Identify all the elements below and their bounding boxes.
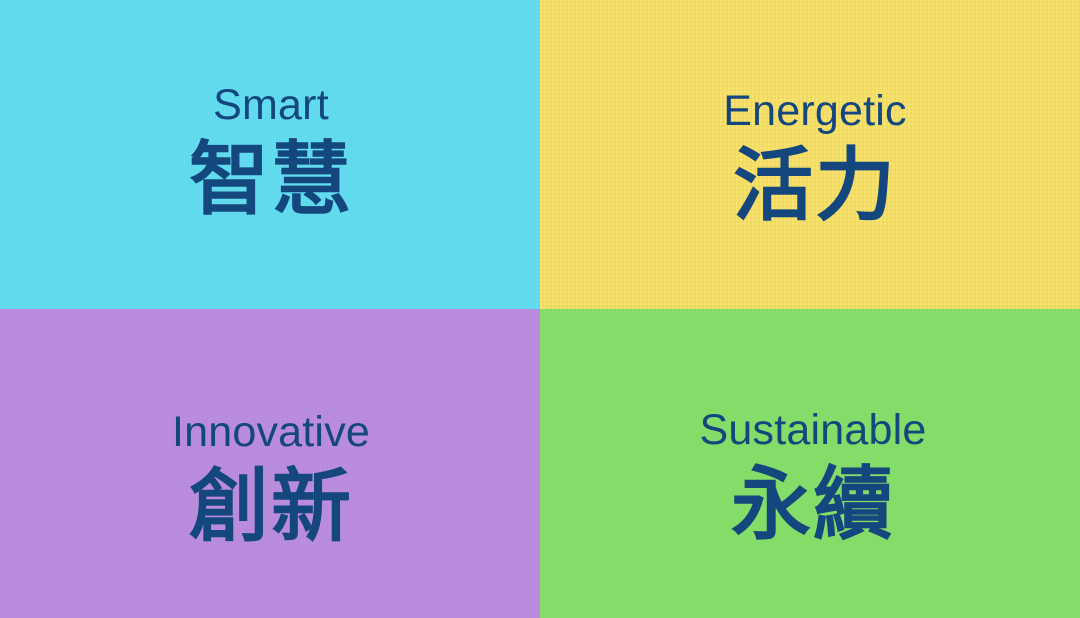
quadrant-innovative[interactable]: Innovative 創新 xyxy=(0,309,540,618)
label-en-sustainable: Sustainable xyxy=(700,409,927,452)
label-cjk-sustainable: 永續 xyxy=(700,464,927,546)
label-stack-innovative: Innovative 創新 xyxy=(172,411,370,548)
label-en-energetic: Energetic xyxy=(723,90,906,133)
label-cjk-smart: 智慧 xyxy=(189,139,353,221)
quadrant-grid: Smart 智慧 Energetic 活力 Innovative 創新 Sust… xyxy=(0,0,1080,618)
label-stack-sustainable: Sustainable 永續 xyxy=(700,409,927,546)
label-stack-energetic: Energetic 活力 xyxy=(723,90,906,227)
label-cjk-energetic: 活力 xyxy=(723,145,906,227)
label-en-smart: Smart xyxy=(189,84,353,127)
quadrant-energetic[interactable]: Energetic 活力 xyxy=(540,0,1080,309)
quadrant-smart[interactable]: Smart 智慧 xyxy=(0,0,540,309)
quadrant-sustainable[interactable]: Sustainable 永續 xyxy=(540,309,1080,618)
label-cjk-innovative: 創新 xyxy=(172,466,370,548)
label-stack-smart: Smart 智慧 xyxy=(189,84,353,221)
label-en-innovative: Innovative xyxy=(172,411,370,454)
